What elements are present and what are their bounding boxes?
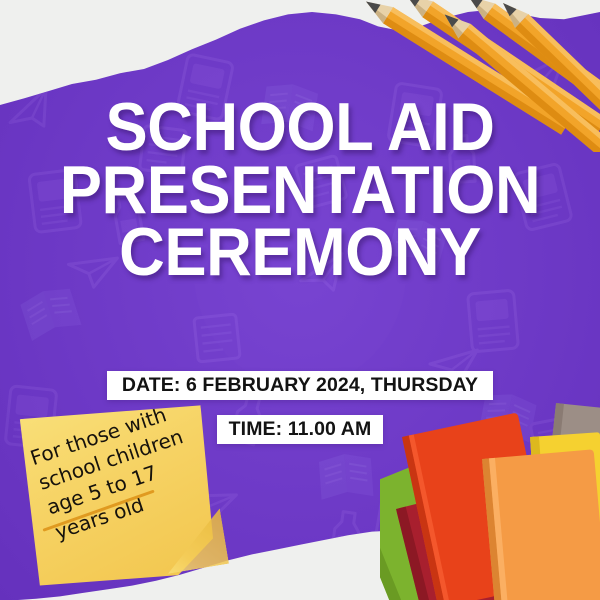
title-line-3: CEREMONY bbox=[21, 221, 579, 284]
sticky-note: For those with school children age 5 to … bbox=[8, 389, 227, 598]
time-text: TIME: 11.00 AM bbox=[229, 418, 372, 441]
title-line-2: PRESENTATION bbox=[21, 159, 579, 222]
poster-canvas: SCHOOL AID PRESENTATION CEREMONY DATE: 6… bbox=[0, 0, 600, 600]
time-banner: TIME: 11.00 AM bbox=[217, 415, 383, 444]
title-line-1: SCHOOL AID bbox=[21, 96, 579, 159]
book-stack-icon bbox=[380, 397, 600, 600]
page-title: SCHOOL AID PRESENTATION CEREMONY bbox=[0, 96, 600, 284]
